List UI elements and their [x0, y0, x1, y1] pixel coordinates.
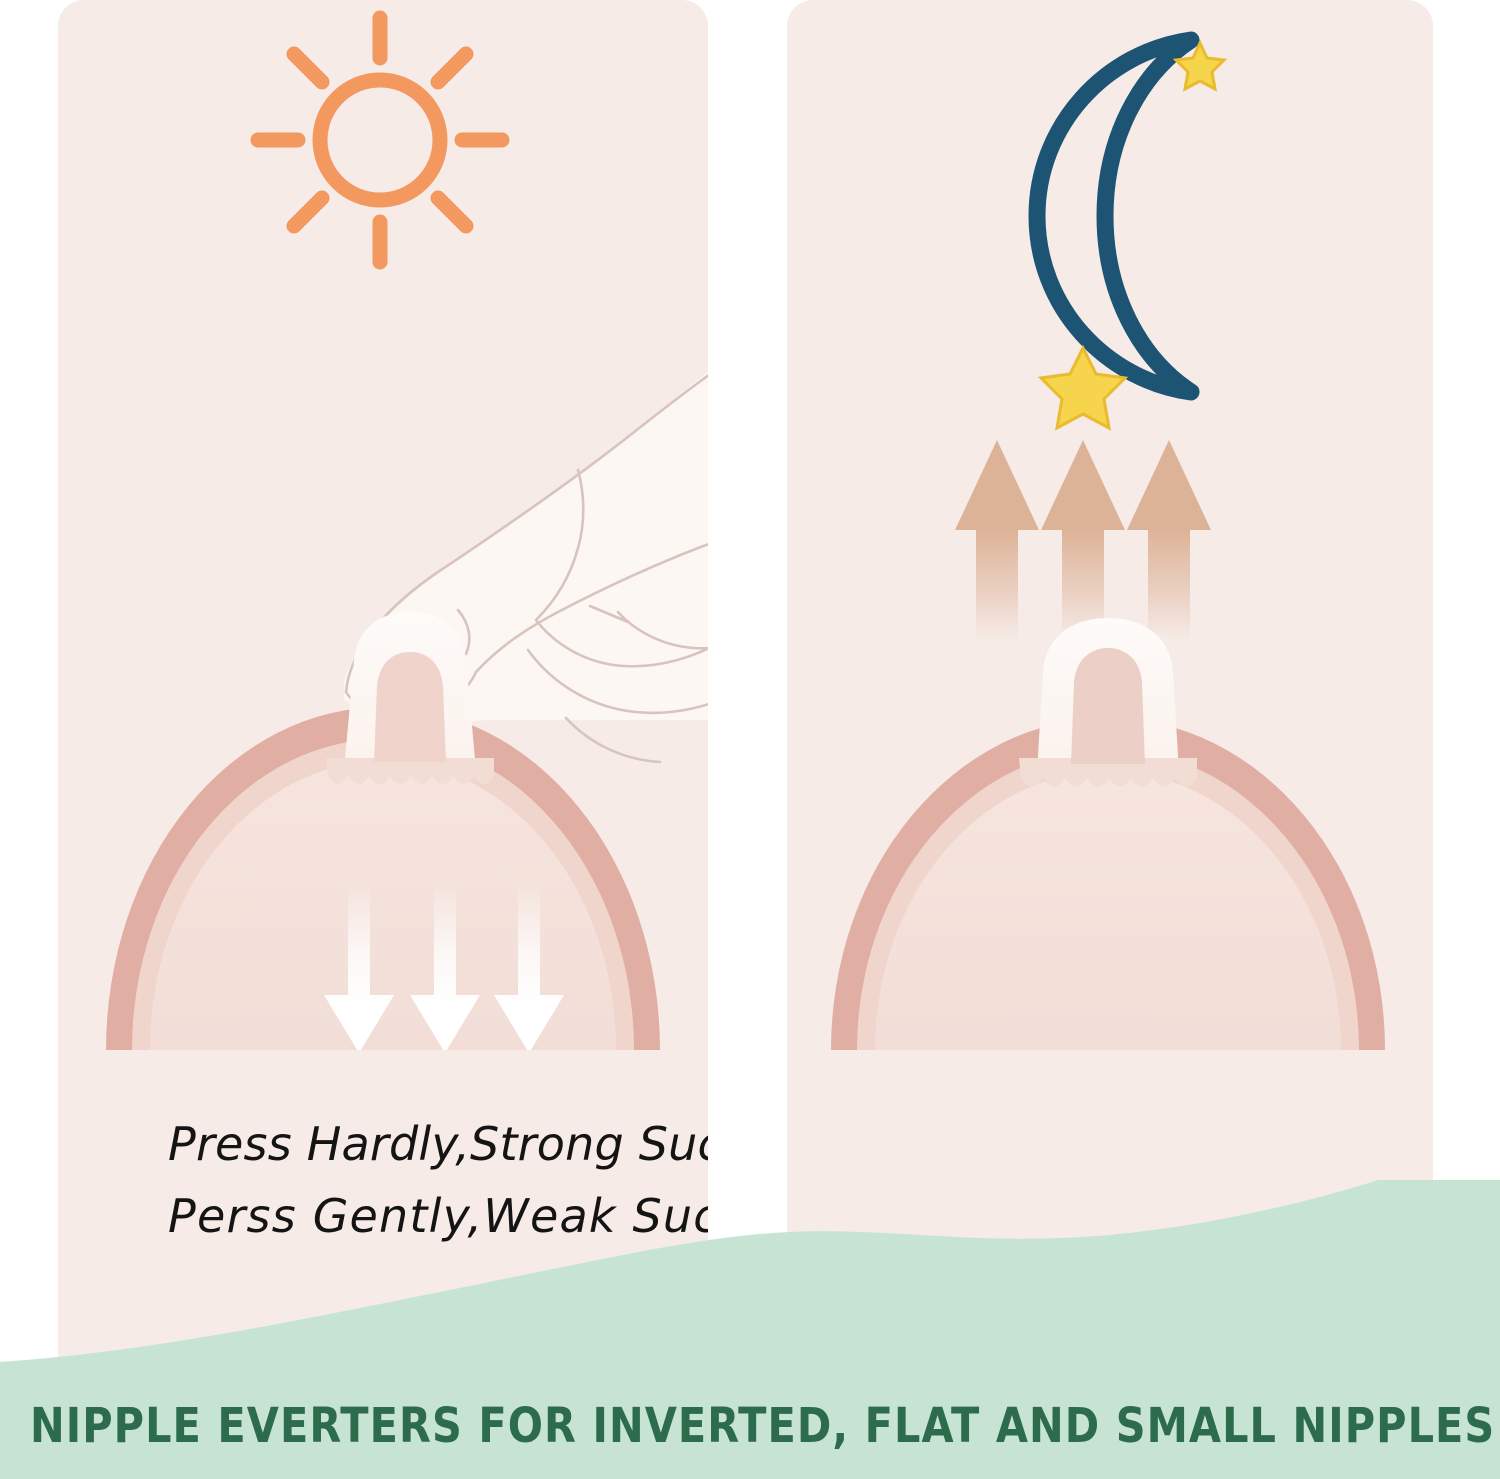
sun-icon [258, 18, 502, 262]
up-arrow-3 [1127, 440, 1211, 640]
nipple-cap [1019, 618, 1197, 787]
product-infographic: Press Hardly,Strong Suction Perss Gently… [0, 0, 1500, 1479]
caption-line-2: Perss Gently,Weak Suction [168, 1180, 708, 1252]
up-arrows [955, 440, 1211, 640]
down-arrows [324, 880, 564, 1053]
press-panel-caption: Press Hardly,Strong Suction Perss Gently… [168, 1108, 708, 1252]
up-arrow-1 [955, 440, 1039, 640]
moon-icon [1037, 40, 1191, 392]
caption-line-1: Press Hardly,Strong Suction [168, 1108, 708, 1180]
banner-headline: NIPPLE EVERTERS FOR INVERTED, FLAT AND S… [30, 1398, 1470, 1454]
corrector-panel: Nipple Corrector Every new mommy needs i… [787, 0, 1433, 1400]
press-panel: Press Hardly,Strong Suction Perss Gently… [58, 0, 708, 1400]
up-arrow-2 [1041, 440, 1125, 640]
corrector-panel-illustration [787, 0, 1433, 1400]
